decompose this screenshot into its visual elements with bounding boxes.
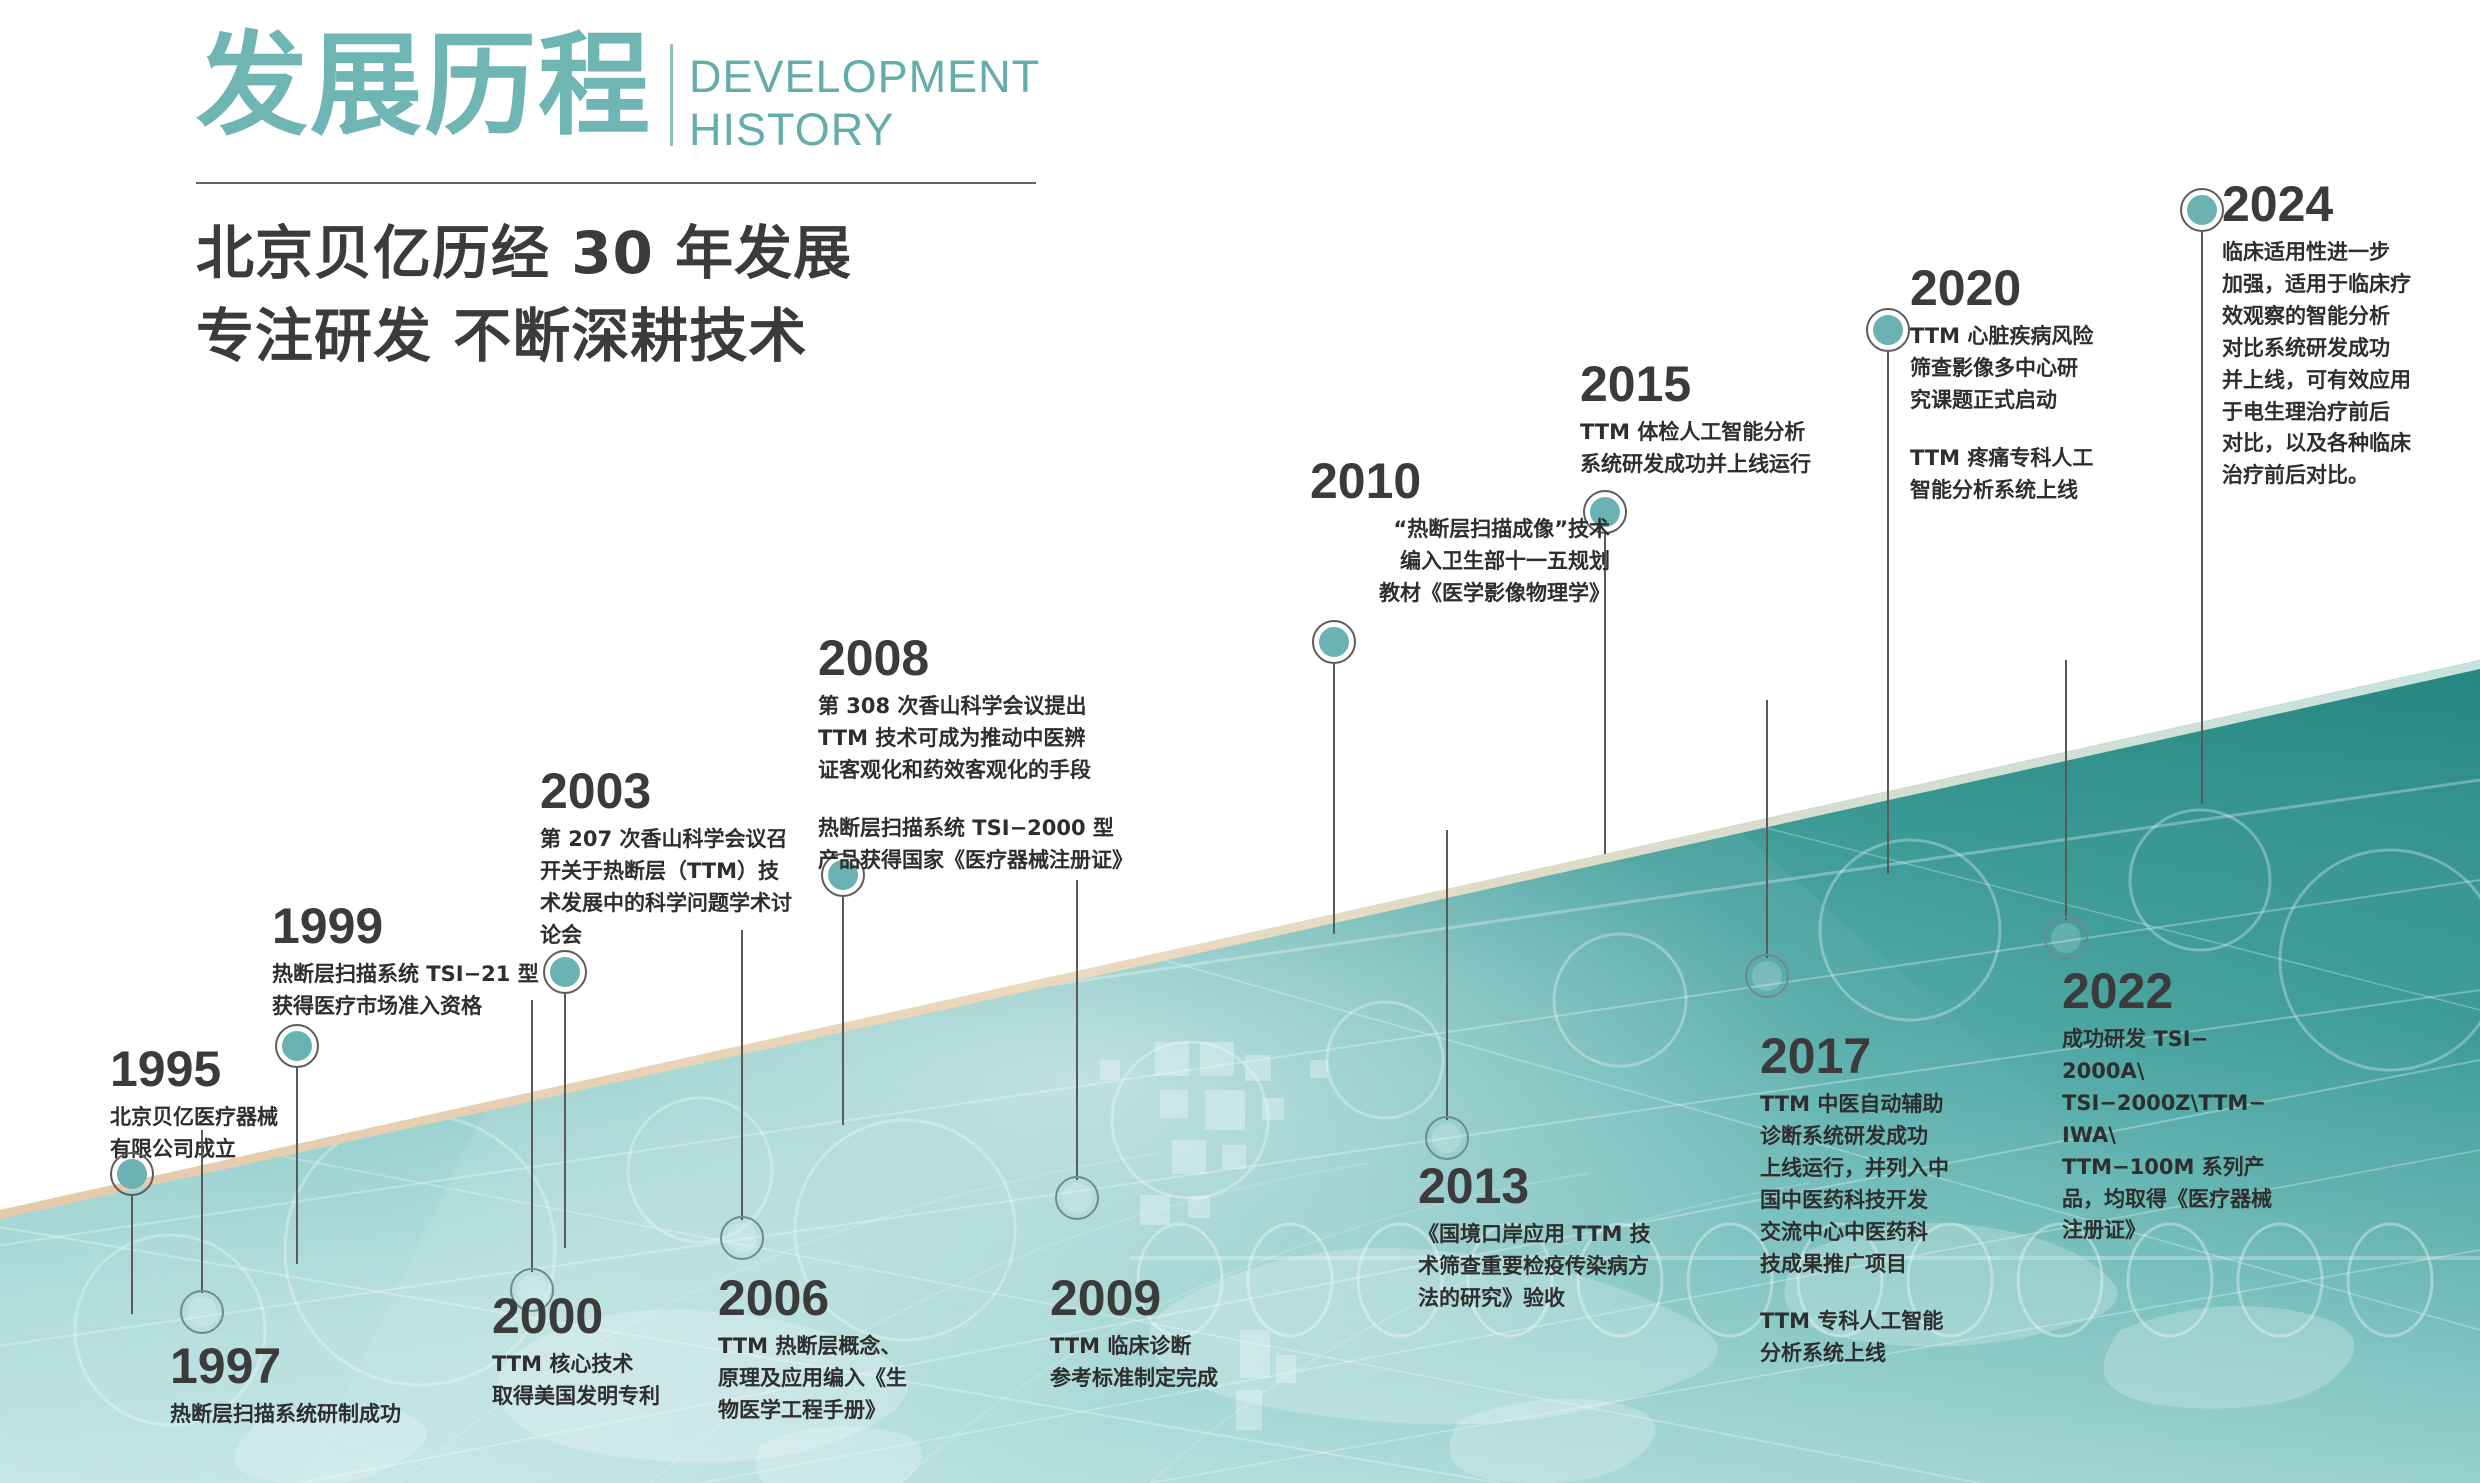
year-label-2013: 2013 xyxy=(1418,1160,1768,1213)
node-stem-1999 xyxy=(296,1068,298,1264)
connector-2006 xyxy=(720,930,764,1260)
desc-2020: TTM 心脏疾病风险 筛查影像多中心研 究课题正式启动 xyxy=(1910,321,2240,417)
year-label-2024: 2024 xyxy=(2222,178,2480,231)
year-label-1995: 1995 xyxy=(110,1043,430,1096)
entry-2009: 2009 TTM 临床诊断 参考标准制定完成 xyxy=(1050,1272,1390,1395)
entry-2020: 2020 TTM 心脏疾病风险 筛查影像多中心研 究课题正式启动 TTM 疼痛专… xyxy=(1910,262,2240,507)
entry-1995: 1995 北京贝亿医疗器械 有限公司成立 xyxy=(110,1043,430,1166)
header-rule xyxy=(196,182,1036,184)
node-dot-2017[interactable] xyxy=(1745,954,1789,998)
node-core-2017 xyxy=(1752,961,1782,991)
page-title-en-line1: DEVELOPMENT xyxy=(689,50,1040,103)
year-label-2009: 2009 xyxy=(1050,1272,1390,1325)
subtitle-line-1: 北京贝亿历经 30 年发展 xyxy=(196,212,1040,294)
desc-2017: TTM 中医自动辅助 诊断系统研发成功 上线运行，并列入中 国中医药科技开发 交… xyxy=(1760,1089,2060,1280)
node-stem-2000 xyxy=(531,1000,533,1272)
node-stem-2017 xyxy=(1766,700,1768,958)
page-title-cn: 发展历程 xyxy=(196,30,652,142)
node-stem-2006 xyxy=(741,930,743,1220)
desc-2020-secondary: TTM 疼痛专科人工 智能分析系统上线 xyxy=(1910,443,2240,507)
connector-1997 xyxy=(180,1130,220,1320)
desc-2008: 第 308 次香山科学会议提出 TTM 技术可成为推动中医辨 证客观化和药效客观… xyxy=(818,691,1288,787)
entry-2017: 2017 TTM 中医自动辅助 诊断系统研发成功 上线运行，并列入中 国中医药科… xyxy=(1760,1030,2060,1370)
node-stem-2022 xyxy=(2065,660,2067,920)
desc-2006: TTM 热断层概念、 原理及应用编入《生 物医学工程手册》 xyxy=(718,1331,1048,1427)
connector-1995 xyxy=(110,1152,150,1292)
title-row: 发展历程 DEVELOPMENT HISTORY xyxy=(196,30,1040,156)
node-core-1995 xyxy=(117,1159,147,1189)
desc-2009: TTM 临床诊断 参考标准制定完成 xyxy=(1050,1331,1390,1395)
node-core-1997 xyxy=(187,1297,217,1327)
desc-2008-secondary: 热断层扫描系统 TSI−2000 型 产品获得国家《医疗器械注册证》 xyxy=(818,813,1288,877)
connector-2010 xyxy=(1312,620,1356,940)
desc-2024: 临床适用性进一步 加强，适用于临床疗 效观察的智能分析 对比系统研发成功 并上线… xyxy=(2222,237,2480,492)
node-dot-1995[interactable] xyxy=(110,1152,154,1196)
entry-2013: 2013 《国境口岸应用 TTM 技 术筛查重要检疫传染病方 法的研究》验收 xyxy=(1418,1160,1768,1315)
page-title-en: DEVELOPMENT HISTORY xyxy=(689,30,1040,156)
node-dot-1999[interactable] xyxy=(275,1024,319,1068)
node-core-2006 xyxy=(727,1223,757,1253)
node-dot-2024[interactable] xyxy=(2180,188,2224,232)
year-label-2008: 2008 xyxy=(818,632,1288,685)
node-core-2022 xyxy=(2051,923,2081,953)
desc-1999: 热断层扫描系统 TSI−21 型 获得医疗市场准入资格 xyxy=(272,959,702,1023)
subtitle-block: 北京贝亿历经 30 年发展 专注研发 不断深耕技术 xyxy=(196,212,1040,377)
node-dot-2020[interactable] xyxy=(1866,308,1910,352)
node-stem-2013 xyxy=(1446,830,1448,1120)
entry-2022: 2022 成功研发 TSI− 2000A\ TSI−2000Z\TTM− IWA… xyxy=(2062,965,2342,1247)
page-title-en-line2: HISTORY xyxy=(689,103,1040,156)
node-stem-1995 xyxy=(131,1196,133,1314)
subtitle-line-2: 专注研发 不断深耕技术 xyxy=(196,295,1040,377)
entry-2008: 2008 第 308 次香山科学会议提出 TTM 技术可成为推动中医辨 证客观化… xyxy=(818,632,1288,877)
node-core-2009 xyxy=(1062,1183,1092,1213)
node-dot-2022[interactable] xyxy=(2044,916,2088,960)
year-label-2017: 2017 xyxy=(1760,1030,2060,1083)
node-core-2010 xyxy=(1319,627,1349,657)
desc-2013: 《国境口岸应用 TTM 技 术筛查重要检疫传染病方 法的研究》验收 xyxy=(1418,1219,1768,1315)
connector-1999 xyxy=(275,1024,319,1264)
node-stem-2010 xyxy=(1333,664,1335,934)
node-core-2020 xyxy=(1873,315,1903,345)
connector-2013 xyxy=(1425,830,1469,1160)
node-core-2024 xyxy=(2187,195,2217,225)
desc-2010: “热断层扫描成像”技术 编入卫生部十一五规划 教材《医学影像物理学》 xyxy=(1310,514,1610,610)
entry-2006: 2006 TTM 热断层概念、 原理及应用编入《生 物医学工程手册》 xyxy=(718,1272,1048,1427)
node-dot-2010[interactable] xyxy=(1312,620,1356,664)
node-dot-2009[interactable] xyxy=(1055,1176,1099,1220)
year-label-2006: 2006 xyxy=(718,1272,1048,1325)
connector-2009 xyxy=(1055,880,1099,1230)
node-dot-2013[interactable] xyxy=(1425,1116,1469,1160)
connector-2022 xyxy=(2044,660,2088,960)
node-core-2013 xyxy=(1432,1123,1462,1153)
page-header: 发展历程 DEVELOPMENT HISTORY 北京贝亿历经 30 年发展 专… xyxy=(196,30,1040,377)
connector-2017 xyxy=(1745,700,1789,1000)
title-divider xyxy=(670,44,673,146)
year-label-2022: 2022 xyxy=(2062,965,2342,1018)
node-dot-2006[interactable] xyxy=(720,1216,764,1260)
node-dot-1997[interactable] xyxy=(180,1290,224,1334)
year-label-2020: 2020 xyxy=(1910,262,2240,315)
desc-2022: 成功研发 TSI− 2000A\ TSI−2000Z\TTM− IWA\ TTM… xyxy=(2062,1024,2342,1247)
node-core-1999 xyxy=(282,1031,312,1061)
node-stem-1997 xyxy=(201,1130,203,1293)
desc-1995: 北京贝亿医疗器械 有限公司成立 xyxy=(110,1102,430,1166)
entry-2024: 2024 临床适用性进一步 加强，适用于临床疗 效观察的智能分析 对比系统研发成… xyxy=(2222,178,2480,492)
desc-2017-secondary: TTM 专科人工智能 分析系统上线 xyxy=(1760,1306,2060,1370)
node-stem-2009 xyxy=(1076,880,1078,1180)
node-stem-2003 xyxy=(564,994,566,1248)
infographic-canvas: 发展历程 DEVELOPMENT HISTORY 北京贝亿历经 30 年发展 专… xyxy=(0,0,2480,1483)
